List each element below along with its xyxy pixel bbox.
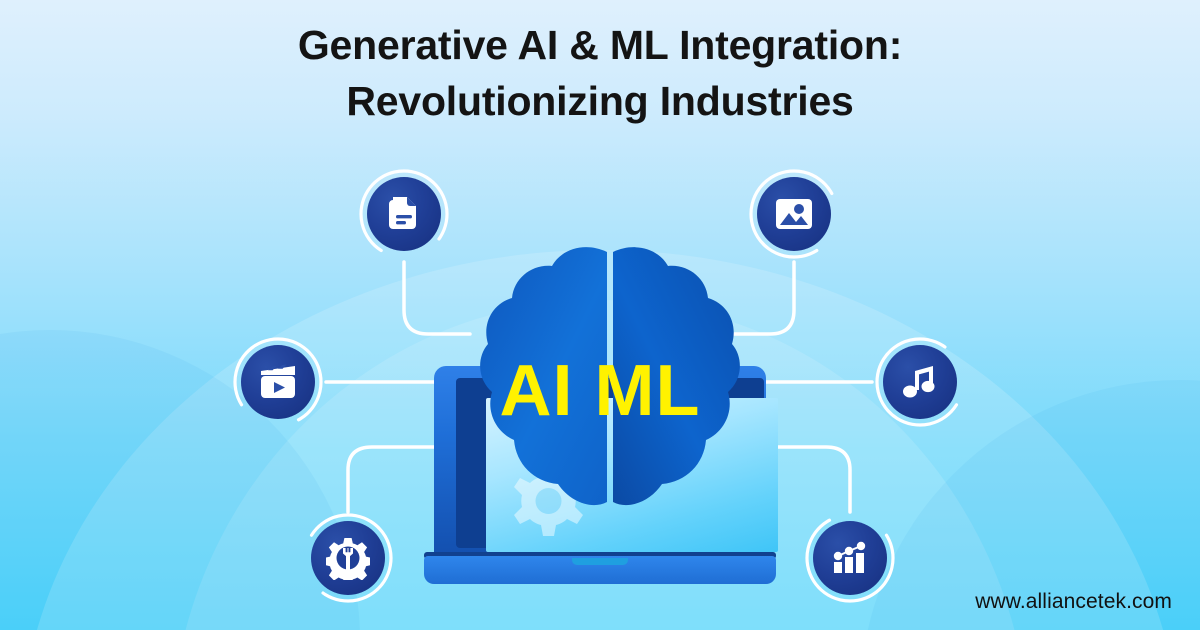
- poster-canvas: Generative AI & ML Integration: Revoluti…: [0, 0, 1200, 630]
- laptop-notch: [572, 558, 628, 565]
- node-circle: [813, 521, 887, 595]
- node-circle: [367, 177, 441, 251]
- video-icon: [257, 362, 299, 402]
- music-icon: [901, 362, 939, 402]
- node-circle: [241, 345, 315, 419]
- image-icon: [773, 195, 815, 233]
- brain-label: AI ML: [0, 355, 1200, 427]
- node-circle: [757, 177, 831, 251]
- website-url[interactable]: www.alliancetek.com: [975, 590, 1172, 614]
- node-analytics[interactable]: [804, 512, 896, 604]
- document-icon: [384, 194, 424, 234]
- node-circle: [883, 345, 957, 419]
- node-circle: [311, 521, 385, 595]
- node-music[interactable]: [874, 336, 966, 428]
- node-settings[interactable]: [302, 512, 394, 604]
- node-video[interactable]: [232, 336, 324, 428]
- gear-wrench-icon: [326, 536, 370, 580]
- node-document[interactable]: [358, 168, 450, 260]
- node-image[interactable]: [748, 168, 840, 260]
- page-title: Generative AI & ML Integration: Revoluti…: [0, 18, 1200, 130]
- page-title-line-2: Revolutionizing Industries: [0, 74, 1200, 130]
- page-title-line-1: Generative AI & ML Integration:: [0, 18, 1200, 74]
- bar-chart-icon: [829, 538, 871, 578]
